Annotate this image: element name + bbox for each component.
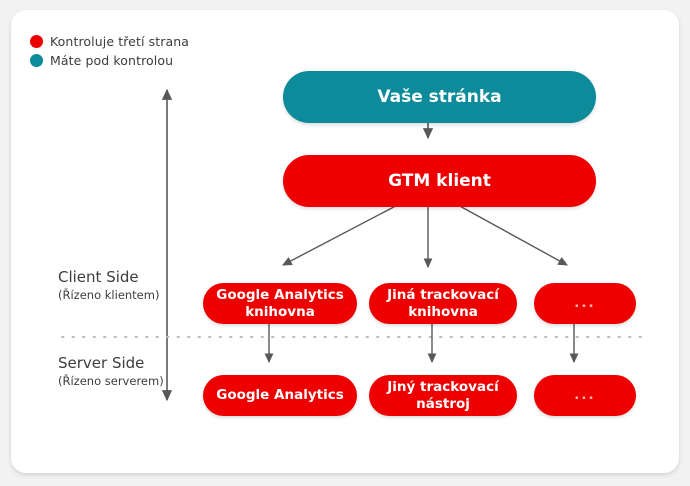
client-side-title: Client Side [58, 268, 188, 287]
legend: Kontroluje třetí strana Máte pod kontrol… [30, 32, 189, 70]
node-google-analytics[interactable]: Google Analytics [203, 375, 357, 416]
legend-item-label: Kontroluje třetí strana [50, 34, 189, 49]
node-other-tracking-library[interactable]: Jiná trackovací knihovna [369, 283, 517, 324]
arrow-gtm-to-ga-library [283, 199, 409, 265]
diagram-card: Kontroluje třetí strana Máte pod kontrol… [11, 10, 679, 473]
server-side-label: Server Side (Řízeno serverem) [58, 354, 188, 389]
teal-dot-icon [30, 54, 43, 67]
legend-item-third-party: Kontroluje třetí strana [30, 32, 189, 51]
legend-item-label: Máte pod kontrolou [50, 53, 173, 68]
node-your-page[interactable]: Vaše stránka [283, 71, 596, 123]
arrow-gtm-to-dots-library [447, 199, 567, 265]
ellipsis-label: ... [574, 387, 595, 404]
red-dot-icon [30, 35, 43, 48]
node-google-analytics-library[interactable]: Google Analytics knihovna [203, 283, 357, 324]
client-side-subtitle: (Řízeno klientem) [58, 287, 188, 303]
client-side-label: Client Side (Řízeno klientem) [58, 268, 188, 303]
node-gtm-client[interactable]: GTM klient [283, 155, 596, 207]
legend-item-your-control: Máte pod kontrolou [30, 51, 189, 70]
node-more-tools[interactable]: ... [534, 375, 636, 416]
node-other-tracking-tool[interactable]: Jiný trackovací nástroj [369, 375, 517, 416]
server-side-title: Server Side [58, 354, 188, 373]
ellipsis-label: ... [574, 295, 595, 312]
node-more-libraries[interactable]: ... [534, 283, 636, 324]
server-side-subtitle: (Řízeno serverem) [58, 373, 188, 389]
